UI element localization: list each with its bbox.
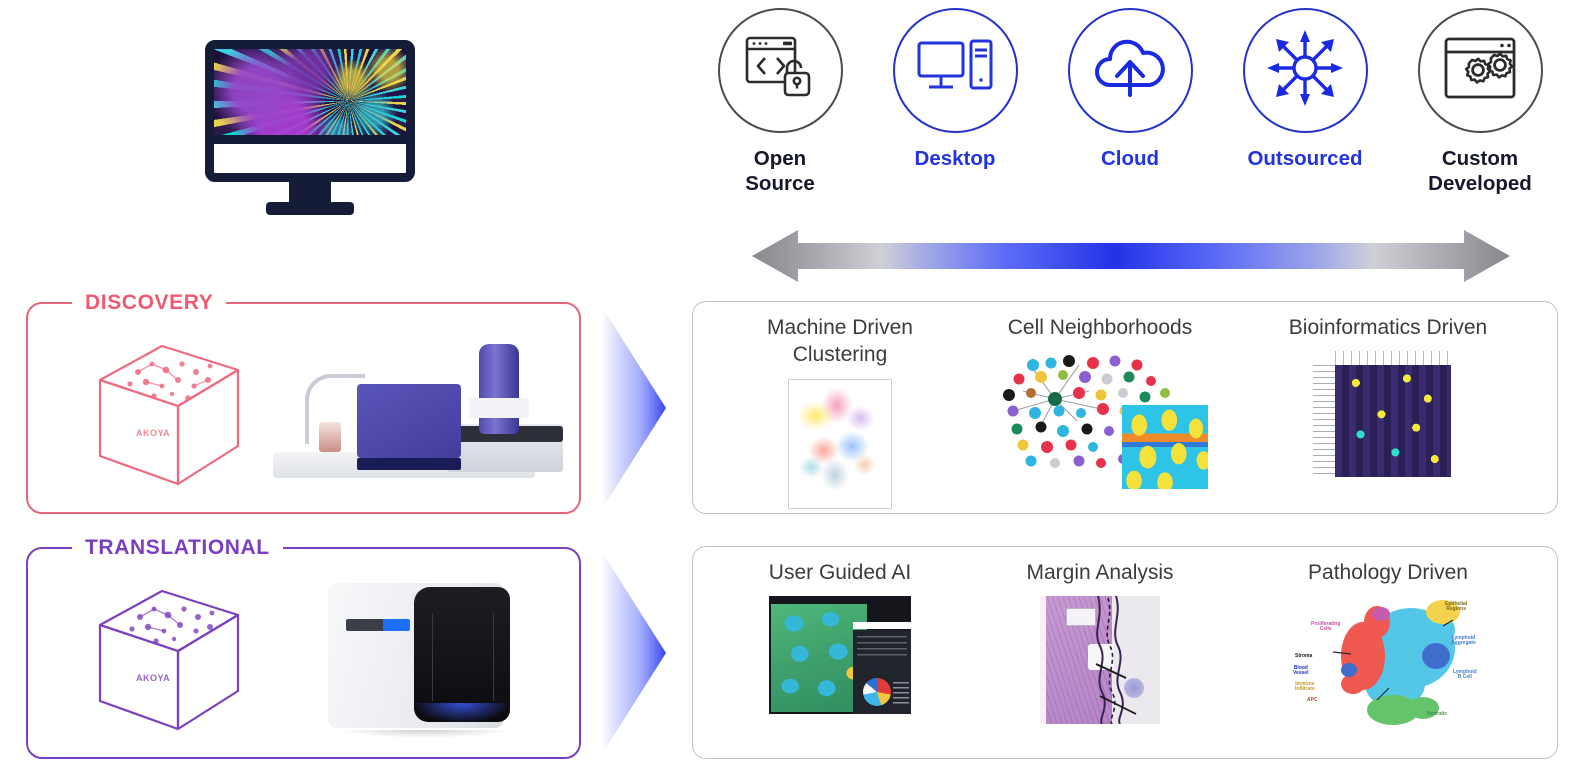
clustered-heatmap — [1313, 351, 1463, 491]
outsourced-icon-circle — [1243, 8, 1368, 133]
pathology-label: Lymphoid B Cell — [1453, 670, 1477, 680]
neighborhood-dot-graph — [993, 351, 1208, 489]
output-column-title: Cell Neighborhoods — [965, 314, 1235, 341]
output-column-title: Pathology Driven — [1238, 559, 1538, 586]
desktop-icon-circle — [893, 8, 1018, 133]
pathology-label: Immune Infiltrate — [1295, 682, 1315, 692]
pathology-label: Necrotic — [1427, 712, 1447, 717]
ai-annotation-screenshot — [769, 596, 911, 714]
translational-flow-chevron — [600, 548, 670, 758]
deployment-option-open-source[interactable]: Open Source — [700, 8, 860, 196]
neighborhood-heat-patch — [1122, 405, 1208, 489]
cloud-icon-circle — [1068, 8, 1193, 133]
cloud-upload-icon — [1088, 33, 1172, 108]
deployment-option-desktop[interactable]: Desktop — [875, 8, 1035, 171]
translational-instrument-photo — [328, 573, 558, 738]
code-unlock-icon — [743, 33, 817, 108]
output-column-title: Machine Driven Clustering — [715, 314, 965, 369]
output-column-bioinformatics-driven: Bioinformatics Driven — [1238, 314, 1538, 491]
monitor-bezel — [205, 40, 415, 182]
monitor-chin — [214, 135, 406, 173]
discovery-stage-label: DISCOVERY — [72, 289, 226, 317]
pathology-label: Epithelial Regions — [1445, 602, 1467, 612]
pathology-label: Proliferating Cells — [1311, 622, 1340, 632]
output-column-title: Margin Analysis — [965, 559, 1235, 586]
window-gears-icon — [1442, 34, 1518, 107]
output-column-title: Bioinformatics Driven — [1238, 314, 1538, 341]
monitor-stand-foot — [266, 202, 354, 215]
pathology-label: APC — [1307, 698, 1318, 703]
discovery-analysis-panel: Machine Driven Clustering Cell Neighborh… — [692, 301, 1558, 514]
discovery-instrument-photo — [273, 344, 563, 484]
output-column-machine-driven-clustering: Machine Driven Clustering — [715, 314, 965, 509]
workflow-diagram-canvas: DISCOVERY — [0, 0, 1572, 769]
deployment-option-label: Cloud — [1101, 146, 1159, 171]
pathology-label: Lymphoid Aggregate — [1451, 636, 1476, 646]
pathology-label: Stroma — [1295, 654, 1312, 659]
cube-brand-logo: AKOYA — [136, 428, 170, 438]
deployment-option-label: Outsourced — [1247, 146, 1362, 171]
umap-cluster-plot — [788, 379, 892, 509]
translational-stage-label: TRANSLATIONAL — [72, 534, 283, 562]
multiplex-image-monitor — [205, 40, 415, 220]
deployment-option-label: Desktop — [915, 146, 996, 171]
translational-analysis-panel: User Guided AI Margin Analysis — [692, 546, 1558, 759]
custom-developed-icon-circle — [1418, 8, 1543, 133]
deployment-option-label: Open Source — [745, 146, 815, 196]
discovery-stage-panel: DISCOVERY — [26, 302, 581, 514]
output-column-user-guided-ai: User Guided AI — [715, 559, 965, 714]
deployment-spectrum-arrow — [706, 228, 1556, 284]
tsne-pathology-map: Epithelial Regions Proliferating Cells S… — [1293, 596, 1483, 726]
output-column-cell-neighborhoods: Cell Neighborhoods — [965, 314, 1235, 489]
output-column-margin-analysis: Margin Analysis — [965, 559, 1235, 724]
deployment-option-outsourced[interactable]: Outsourced — [1225, 8, 1385, 171]
desktop-tower-icon — [916, 35, 994, 106]
deployment-option-cloud[interactable]: Cloud — [1050, 8, 1210, 171]
pathology-label: Blood Vessel — [1293, 666, 1309, 676]
deployment-option-label: Custom Developed — [1428, 146, 1532, 196]
deployment-option-custom-developed[interactable]: Custom Developed — [1400, 8, 1560, 196]
discovery-flow-chevron — [600, 303, 670, 513]
deployment-options-row: Open Source Desktop — [700, 8, 1560, 218]
he-margin-image — [1040, 596, 1160, 724]
output-column-pathology-driven: Pathology Driven — [1238, 559, 1538, 726]
translational-assay-cube: AKOYA — [90, 581, 248, 733]
output-column-title: User Guided AI — [715, 559, 965, 586]
monitor-stand-neck — [289, 182, 331, 204]
discovery-assay-cube: AKOYA — [90, 336, 248, 488]
open-source-icon-circle — [718, 8, 843, 133]
translational-stage-panel: TRANSLATIONAL — [26, 547, 581, 759]
cube-brand-logo: AKOYA — [136, 673, 170, 683]
hub-arrows-icon — [1263, 26, 1347, 115]
